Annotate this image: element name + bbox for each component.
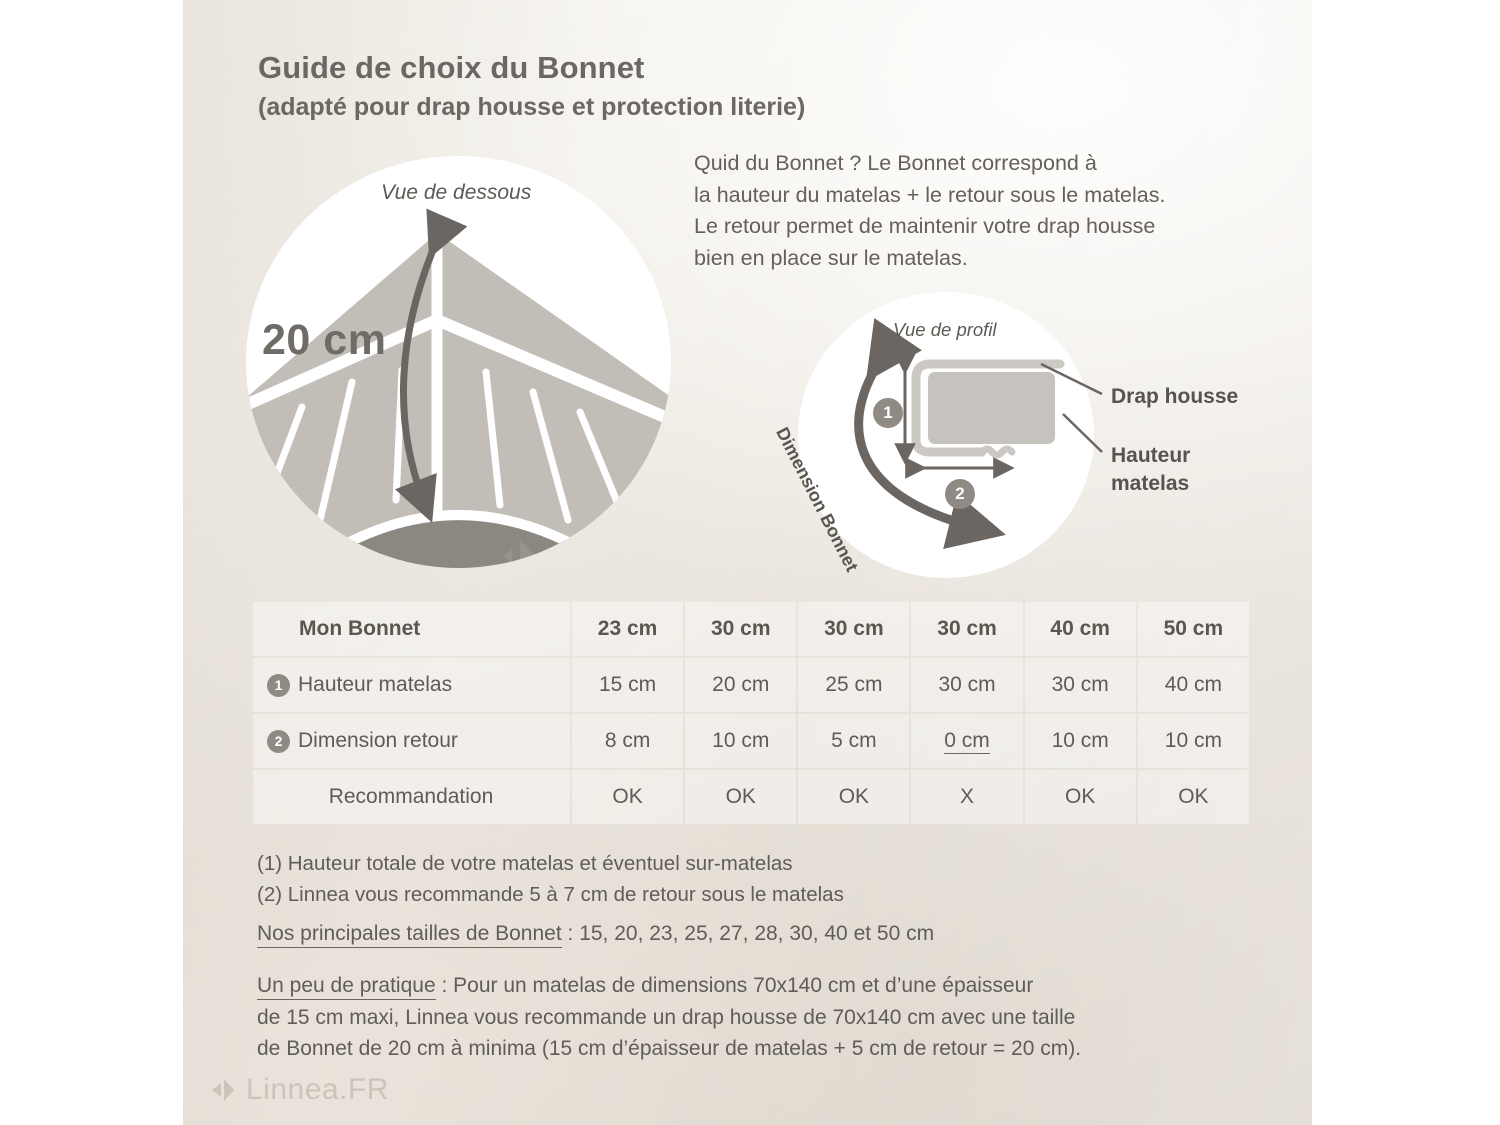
practice-line-1: Un peu de pratique : Pour un matelas de … — [257, 970, 1247, 1002]
table-label-mattress-height-text: Hauteur matelas — [298, 673, 452, 696]
cell-height-0: 15 cm — [572, 658, 683, 712]
cell-reco-4: OK — [1025, 770, 1136, 824]
cell-tuck-3-value: 0 cm — [944, 729, 990, 754]
profile-view-caption: Vue de profil — [893, 319, 997, 341]
cell-height-1: 20 cm — [685, 658, 796, 712]
practice-block: Un peu de pratique : Pour un matelas de … — [257, 970, 1247, 1065]
callout-hauteur-line-1: Hauteur — [1111, 442, 1190, 470]
cell-bonnet-5: 50 cm — [1138, 602, 1249, 656]
cell-tuck-1: 10 cm — [685, 714, 796, 768]
cell-height-2: 25 cm — [798, 658, 909, 712]
callout-drap-housse: Drap housse — [1111, 383, 1238, 411]
practice-line-3: de Bonnet de 20 cm à minima (15 cm d’épa… — [257, 1033, 1247, 1065]
cell-height-3: 30 cm — [911, 658, 1022, 712]
bonnet-table-wrap: Mon Bonnet 23 cm 30 cm 30 cm 30 cm 40 cm… — [251, 600, 1251, 826]
table-label-mattress-height: 1Hauteur matelas — [253, 658, 570, 712]
practice-line-1-rest: : Pour un matelas de dimensions 70x140 c… — [436, 974, 1034, 997]
cell-bonnet-2: 30 cm — [798, 602, 909, 656]
cell-tuck-3: 0 cm — [911, 714, 1022, 768]
cell-height-5: 40 cm — [1138, 658, 1249, 712]
cell-reco-3: X — [911, 770, 1022, 824]
sizes-line: Nos principales tailles de Bonnet : 15, … — [257, 918, 1237, 949]
brand-logo: Linnea.FR — [210, 1073, 389, 1107]
dimension-bonnet-label: Dimension Bonnet — [771, 424, 862, 575]
table-label-tuck-text: Dimension retour — [298, 729, 458, 752]
table-row-tuck: 2Dimension retour 8 cm 10 cm 5 cm 0 cm 1… — [253, 714, 1249, 768]
brand-wordmark: Linnea.FR — [246, 1073, 389, 1107]
cell-bonnet-4: 40 cm — [1025, 602, 1136, 656]
cell-tuck-4: 10 cm — [1025, 714, 1136, 768]
row-badge-1: 1 — [267, 674, 290, 697]
footnote-2: (2) Linnea vous recommande 5 à 7 cm de r… — [257, 879, 1217, 910]
callout-hauteur-matelas: Hauteur matelas — [1111, 442, 1190, 498]
dimension-bonnet-label-group: Dimension Bonnet — [760, 418, 1000, 588]
cell-tuck-5: 10 cm — [1138, 714, 1249, 768]
sizes-label: Nos principales tailles de Bonnet — [257, 922, 562, 948]
table-row-recommendation: Recommandation OK OK OK X OK OK — [253, 770, 1249, 824]
table-row-mattress-height: 1Hauteur matelas 15 cm 20 cm 25 cm 30 cm… — [253, 658, 1249, 712]
table-row-header: Mon Bonnet 23 cm 30 cm 30 cm 30 cm 40 cm… — [253, 602, 1249, 656]
practice-label: Un peu de pratique — [257, 974, 436, 1000]
cell-bonnet-0: 23 cm — [572, 602, 683, 656]
cell-reco-5: OK — [1138, 770, 1249, 824]
sizes-values: : 15, 20, 23, 25, 27, 28, 30, 40 et 50 c… — [562, 922, 934, 945]
cell-reco-0: OK — [572, 770, 683, 824]
cell-bonnet-1: 30 cm — [685, 602, 796, 656]
table-label-tuck: 2Dimension retour — [253, 714, 570, 768]
callout-hauteur-line-2: matelas — [1111, 470, 1190, 498]
cell-bonnet-3: 30 cm — [911, 602, 1022, 656]
profile-view-illustration — [0, 0, 1500, 1125]
cell-height-4: 30 cm — [1025, 658, 1136, 712]
cell-reco-1: OK — [685, 770, 796, 824]
table-header-label: Mon Bonnet — [253, 602, 570, 656]
cell-tuck-0: 8 cm — [572, 714, 683, 768]
table-label-recommendation: Recommandation — [253, 770, 570, 824]
footnote-1: (1) Hauteur totale de votre matelas et é… — [257, 848, 1217, 879]
practice-line-2: de 15 cm maxi, Linnea vous recommande un… — [257, 1002, 1247, 1034]
cell-tuck-2: 5 cm — [798, 714, 909, 768]
infographic-canvas: Guide de choix du Bonnet (adapté pour dr… — [0, 0, 1500, 1125]
footnotes: (1) Hauteur totale de votre matelas et é… — [257, 848, 1217, 910]
row-badge-2: 2 — [267, 730, 290, 753]
bonnet-table: Mon Bonnet 23 cm 30 cm 30 cm 30 cm 40 cm… — [251, 600, 1251, 826]
diamond-mark-icon — [210, 1077, 236, 1103]
cell-reco-2: OK — [798, 770, 909, 824]
